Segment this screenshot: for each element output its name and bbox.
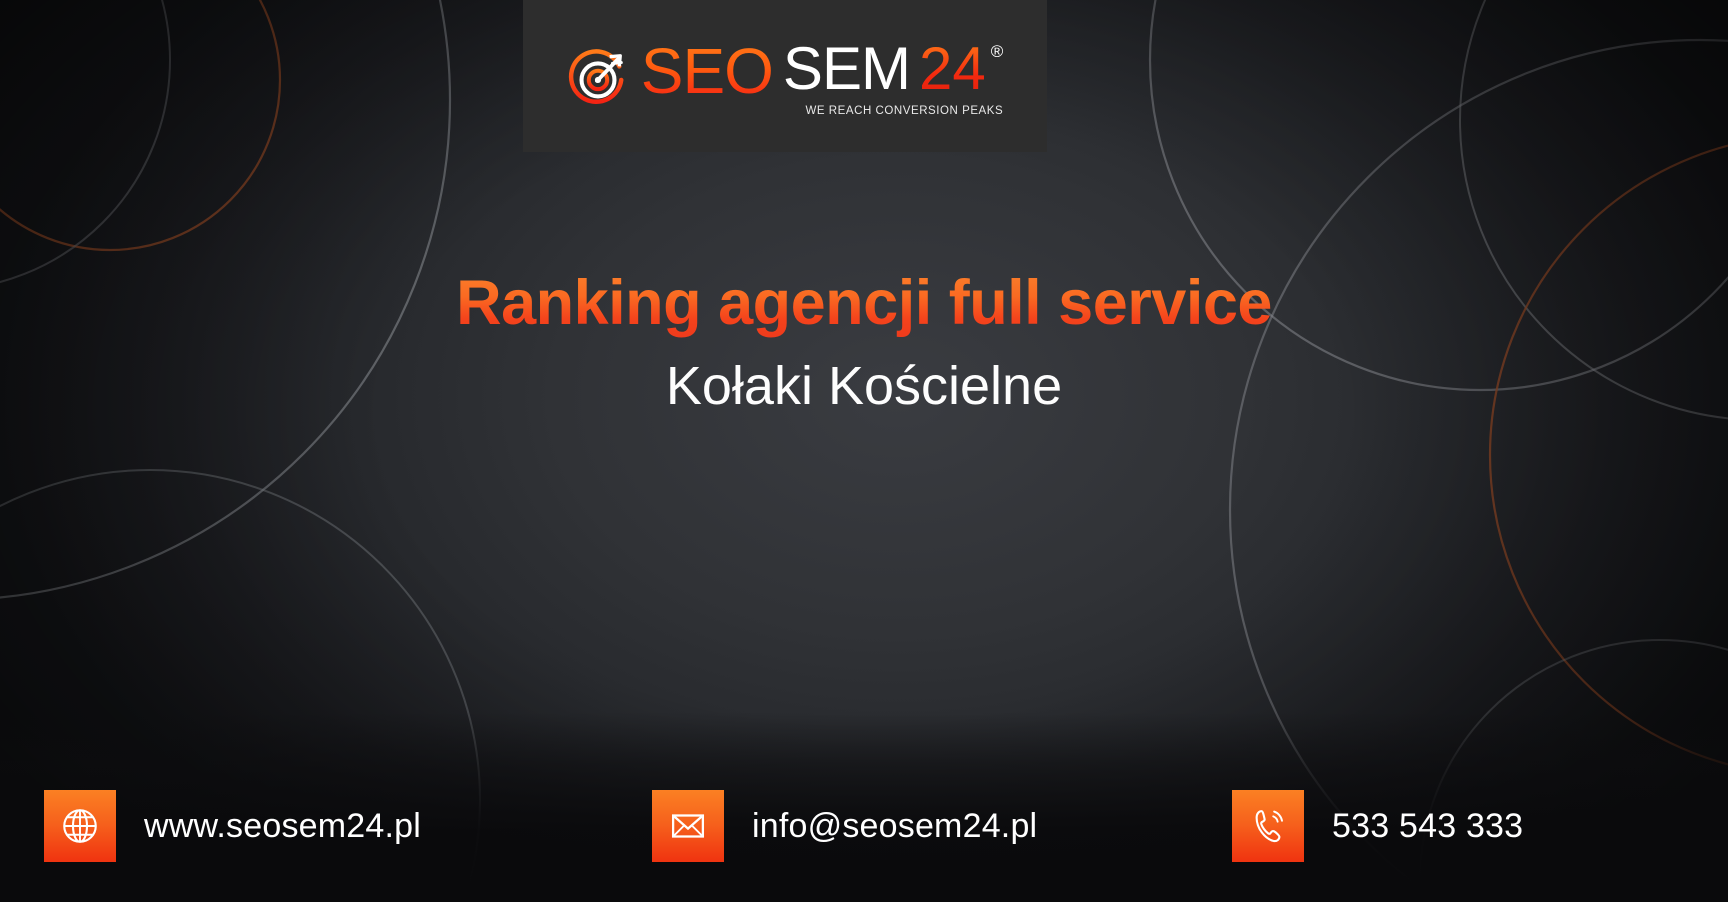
logo-sem-text: SEM xyxy=(783,39,910,99)
footer-phone-text: 533 543 333 xyxy=(1332,807,1523,846)
slide-canvas: SEO SEM 24 ® WE REACH CONVERSION PEAKS R… xyxy=(0,0,1728,902)
logo-seo-text: SEO xyxy=(641,39,773,103)
globe-icon xyxy=(44,790,116,862)
footer-website-text: www.seosem24.pl xyxy=(144,807,421,846)
logo-wordmark: SEO SEM 24 ® WE REACH CONVERSION PEAKS xyxy=(641,39,1003,117)
target-arrow-icon xyxy=(567,47,629,109)
footer-items: www.seosem24.pl info@seosem24.pl xyxy=(0,790,1728,862)
logo-right-block: SEM 24 ® WE REACH CONVERSION PEAKS xyxy=(783,39,1003,117)
footer-item-phone[interactable]: 533 543 333 xyxy=(1232,790,1688,862)
main-content: Ranking agencji full service Kołaki Kośc… xyxy=(0,268,1728,416)
logo-24-text: 24 xyxy=(919,39,986,99)
footer-email-text: info@seosem24.pl xyxy=(752,807,1037,846)
page-subtitle: Kołaki Kościelne xyxy=(0,357,1728,416)
page-title: Ranking agencji full service xyxy=(0,268,1728,339)
logo-tagline: WE REACH CONVERSION PEAKS xyxy=(783,105,1003,117)
footer-item-website[interactable]: www.seosem24.pl xyxy=(44,790,652,862)
registered-trademark-icon: ® xyxy=(991,43,1004,60)
deco-circle-orange-topleft xyxy=(0,0,280,250)
footer-contact-bar: www.seosem24.pl info@seosem24.pl xyxy=(0,712,1728,902)
deco-circle-grey-topleft xyxy=(0,0,170,290)
footer-item-email[interactable]: info@seosem24.pl xyxy=(652,790,1232,862)
logo-band: SEO SEM 24 ® WE REACH CONVERSION PEAKS xyxy=(523,0,1047,152)
envelope-icon xyxy=(652,790,724,862)
phone-icon xyxy=(1232,790,1304,862)
deco-circle-orange-right xyxy=(1490,135,1728,775)
logo-sem-row: SEM 24 ® xyxy=(783,39,1003,99)
brand-logo[interactable]: SEO SEM 24 ® WE REACH CONVERSION PEAKS xyxy=(567,39,1003,117)
